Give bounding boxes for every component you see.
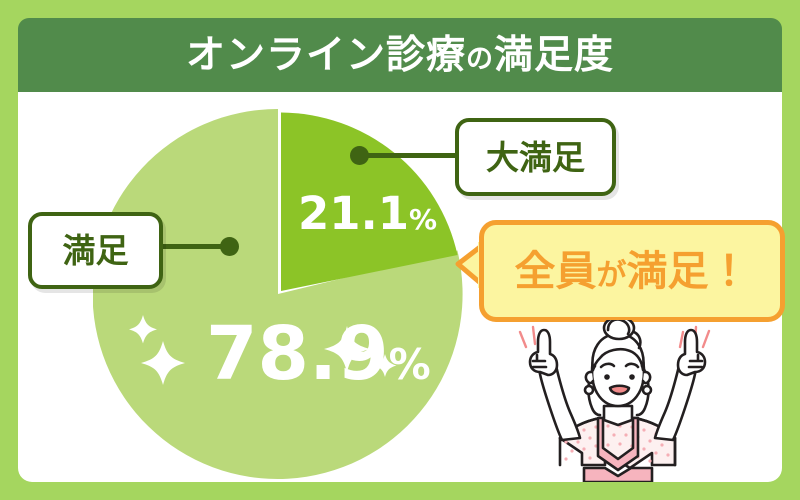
percent-sign-2: % [389, 340, 431, 389]
bubble-text-ga: が [597, 258, 627, 293]
title-particle: の [466, 44, 494, 75]
bubble-text-b: 満足！ [627, 247, 750, 295]
header-bar: オンライン診療の満足度 [18, 18, 782, 92]
leader-dot-very-satisfied [350, 146, 369, 165]
leader-line-very-satisfied [359, 153, 459, 158]
title-main: オンライン診療 [186, 33, 466, 78]
callout-very-satisfied[interactable]: 大満足 [455, 118, 616, 196]
page-title: オンライン診療の満足度 [186, 36, 614, 75]
slice-value-very-satisfied: 21.1% [298, 191, 437, 236]
eye-left [604, 374, 610, 380]
speech-bubble-text: 全員が満足！ [515, 251, 750, 292]
bubble-text-a: 全員 [515, 247, 597, 295]
value-211: 21.1 [298, 187, 409, 240]
callout-satisfied[interactable]: 満足 [28, 212, 163, 289]
ear-right [643, 372, 650, 383]
eye-right [629, 374, 635, 380]
speech-bubble[interactable]: 全員が満足！ [479, 220, 785, 322]
earring-left [585, 386, 593, 394]
infographic-root: オンライン診療の満足度 21.1% 78.9% 大満足 満 [0, 0, 800, 500]
ear-left [586, 372, 593, 383]
pie-chart: 21.1% 78.9% [93, 109, 463, 479]
callout-satisfied-label: 満足 [63, 234, 129, 267]
pie-chart-svg [93, 109, 463, 479]
title-tail: 満足度 [494, 33, 614, 78]
percent-sign-1: % [409, 203, 437, 236]
woman-pointing-up-illustration [500, 320, 782, 482]
earring-right [643, 386, 651, 394]
neck [604, 406, 632, 425]
slice-value-satisfied: 78.9% [206, 317, 431, 391]
mouth [610, 386, 629, 394]
callout-very-satisfied-label: 大満足 [486, 141, 585, 174]
leader-dot-satisfied [220, 237, 239, 256]
value-789: 78.9 [206, 311, 389, 397]
